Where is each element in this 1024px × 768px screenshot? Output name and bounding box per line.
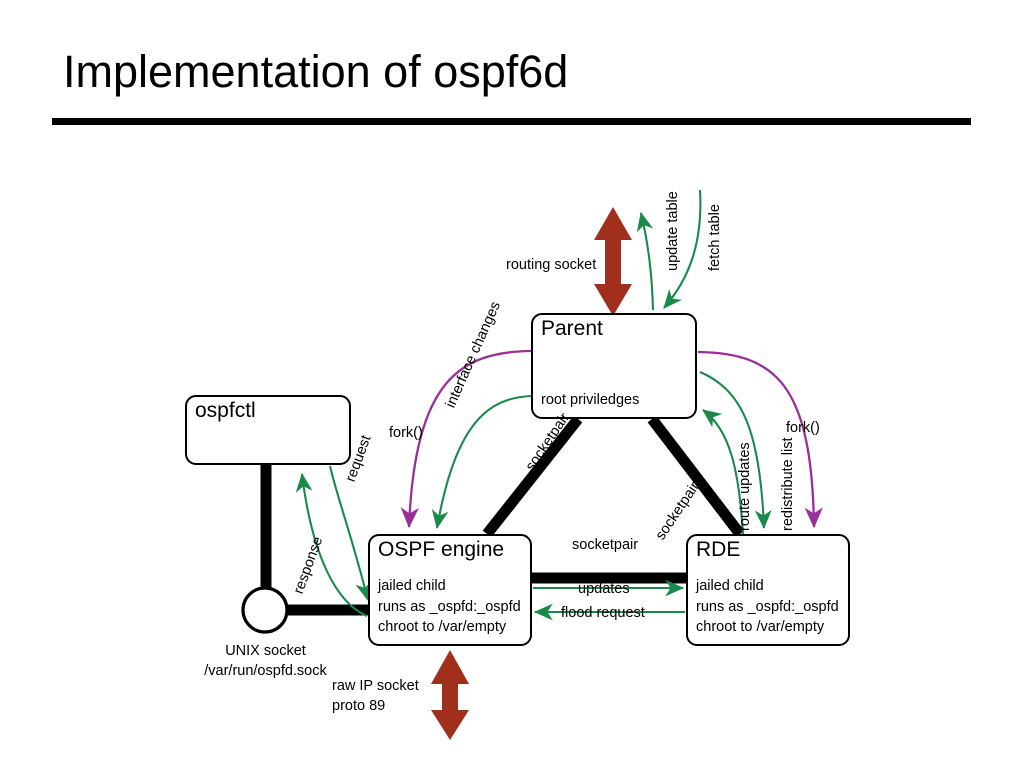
label-unix-socket-line2: /var/run/ospfd.sock: [188, 661, 343, 681]
slide-canvas: Implementation of ospf6d: [0, 0, 1024, 768]
raw-ip-socket-arrow: [431, 650, 469, 740]
label-fetch-table: fetch table: [705, 204, 725, 271]
node-ospf-engine[interactable]: OSPF engine jailed child runs as _ospfd:…: [368, 534, 532, 646]
label-updates: updates: [578, 579, 630, 599]
node-parent-title: Parent: [541, 317, 603, 341]
update-table-arrow: [641, 213, 653, 310]
label-socketpair-engine-rde: socketpair: [572, 535, 638, 555]
label-routing-socket: routing socket: [506, 255, 596, 275]
node-ospf-engine-details: jailed child runs as _ospfd:_ospfd chroo…: [378, 576, 521, 638]
diagram-connectors: [0, 0, 1024, 768]
label-raw-ip-socket: raw IP socket proto 89: [332, 676, 419, 717]
node-ospfctl[interactable]: ospfctl: [185, 395, 351, 465]
architecture-diagram: ospfctl Parent root priviledges OSPF eng…: [0, 0, 1024, 768]
interface-changes-arrow: [437, 396, 531, 528]
node-ospf-engine-detail-line: chroot to /var/empty: [378, 617, 521, 638]
label-route-updates: route updates: [735, 442, 755, 531]
routing-socket-arrow: [594, 207, 632, 316]
node-ospf-engine-detail-line: runs as _ospfd:_ospfd: [378, 597, 521, 618]
label-raw-ip-socket-line1: raw IP socket: [332, 676, 419, 696]
node-rde-detail-line: jailed child: [696, 576, 839, 597]
label-redistribute-list: redistribute list: [778, 438, 798, 531]
node-rde-detail-line: chroot to /var/empty: [696, 617, 839, 638]
label-update-table: update table: [663, 191, 683, 271]
label-fork-right: fork(): [786, 418, 820, 438]
node-parent[interactable]: Parent root priviledges: [531, 313, 697, 419]
label-unix-socket-line1: UNIX socket: [188, 641, 343, 661]
unix-socket-node: [243, 588, 287, 632]
label-unix-socket: UNIX socket /var/run/ospfd.sock: [188, 641, 343, 682]
node-ospf-engine-detail-line: jailed child: [378, 576, 521, 597]
label-flood-request: flood request: [561, 603, 645, 623]
request-arrow: [330, 466, 368, 600]
label-fork-left: fork(): [389, 423, 423, 443]
node-rde[interactable]: RDE jailed child runs as _ospfd:_ospfd c…: [686, 534, 850, 646]
node-parent-detail-line: root priviledges: [541, 390, 639, 411]
node-parent-details: root priviledges: [541, 390, 639, 411]
node-rde-title: RDE: [696, 538, 740, 562]
node-rde-details: jailed child runs as _ospfd:_ospfd chroo…: [696, 576, 839, 638]
node-ospf-engine-title: OSPF engine: [378, 538, 504, 562]
node-ospfctl-title: ospfctl: [195, 399, 256, 423]
node-rde-detail-line: runs as _ospfd:_ospfd: [696, 597, 839, 618]
label-raw-ip-socket-line2: proto 89: [332, 696, 419, 716]
